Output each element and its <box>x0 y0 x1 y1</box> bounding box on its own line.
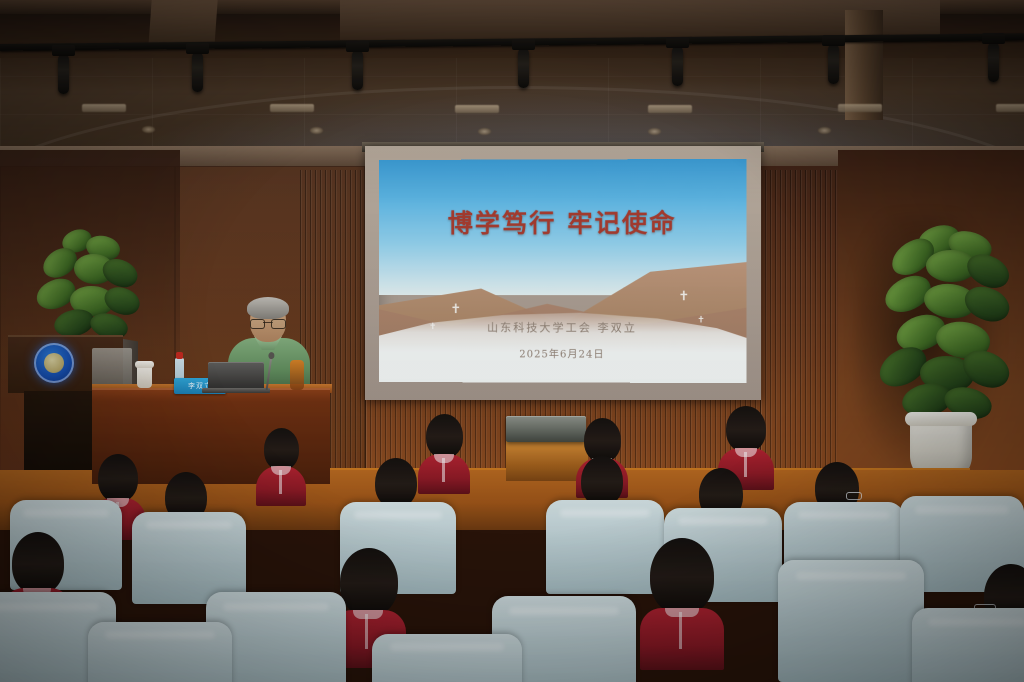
slide-date: 2025年6月24日 <box>379 345 747 361</box>
projected-slide: 🕇 🕇 🕇 🕇 博学笃行 牢记使命 山东科技大学工会 李双立 2025年6月24… <box>379 159 747 383</box>
track-spotlight <box>518 48 529 88</box>
downlight <box>818 127 831 134</box>
track-spotlight <box>58 54 69 94</box>
downlight <box>478 128 491 135</box>
shirt <box>640 608 724 670</box>
ceiling-beam-left <box>148 0 217 48</box>
head <box>264 428 299 470</box>
head <box>340 548 398 616</box>
seat-back-cover <box>778 560 924 682</box>
projection-screen: 🕇 🕇 🕇 🕇 博学笃行 牢记使命 山东科技大学工会 李双立 2025年6月24… <box>365 146 761 400</box>
leaf <box>959 280 1014 328</box>
track-spotlight <box>672 46 683 86</box>
ceiling <box>0 0 1024 150</box>
flower-vase <box>290 360 304 390</box>
downlight <box>310 127 323 134</box>
head <box>375 458 417 508</box>
track-spotlight <box>352 50 363 90</box>
seat-back-cover <box>372 634 522 682</box>
glasses-icon <box>250 319 286 327</box>
seat-back-cover <box>88 622 232 682</box>
potted-plant-left <box>28 228 148 346</box>
audience-member <box>256 428 306 500</box>
slide-title: 博学笃行 牢记使命 <box>379 204 747 241</box>
recessed-ceiling-light <box>82 104 126 112</box>
laptop-base <box>202 388 270 393</box>
laptop-screen <box>208 362 264 390</box>
shirt <box>418 454 470 494</box>
audience-member <box>418 414 470 488</box>
glasses-icon <box>846 492 862 500</box>
head <box>98 454 138 502</box>
head <box>12 532 64 594</box>
audience-member <box>640 538 724 654</box>
track-spotlight <box>828 44 839 84</box>
slide-organization: 山东科技大学工会 李双立 <box>379 319 747 336</box>
audience-seating <box>0 396 1024 682</box>
downlight <box>648 128 661 135</box>
track-spotlight <box>192 52 203 92</box>
recessed-ceiling-light <box>270 104 314 112</box>
recessed-ceiling-light <box>838 104 882 112</box>
bird-icon: 🕇 <box>452 302 460 315</box>
university-crest-icon <box>34 343 74 383</box>
head <box>650 538 714 614</box>
seat-back-cover <box>912 608 1024 682</box>
recessed-ceiling-light <box>455 105 499 113</box>
monitor-left <box>92 348 132 388</box>
seat-back-cover <box>132 512 246 604</box>
track-spotlight <box>988 42 999 82</box>
head <box>426 414 463 458</box>
photo-scene: 🕇 🕇 🕇 🕇 博学笃行 牢记使命 山东科技大学工会 李双立 2025年6月24… <box>0 0 1024 682</box>
presenter-hair <box>247 297 289 319</box>
recessed-ceiling-light <box>996 104 1024 112</box>
tea-cup <box>137 366 152 388</box>
recessed-ceiling-light <box>648 105 692 113</box>
crest-mark <box>44 353 64 373</box>
head <box>726 406 766 452</box>
downlight <box>142 126 155 133</box>
head <box>581 456 623 506</box>
bird-icon: 🕇 <box>680 289 688 302</box>
shirt <box>256 466 306 506</box>
